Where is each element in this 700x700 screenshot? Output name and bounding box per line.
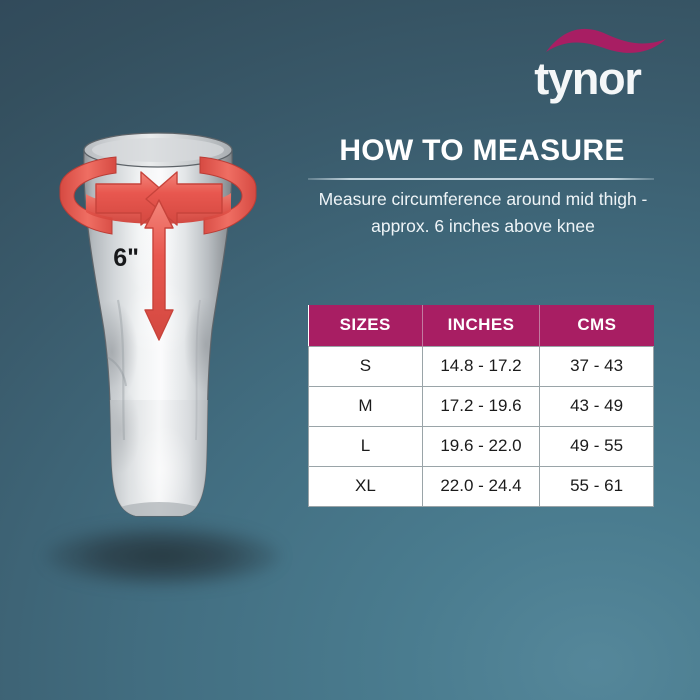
measure-distance-label: 6" bbox=[113, 244, 139, 272]
cell-cms: 37 - 43 bbox=[540, 347, 654, 387]
table-row: M 17.2 - 19.6 43 - 49 bbox=[309, 387, 654, 427]
cell-inches: 17.2 - 19.6 bbox=[422, 387, 539, 427]
cell-size: XL bbox=[309, 467, 423, 507]
size-chart: SIZES INCHES CMS S 14.8 - 17.2 37 - 43 M… bbox=[308, 305, 654, 507]
table-row: L 19.6 - 22.0 49 - 55 bbox=[309, 427, 654, 467]
cell-cms: 43 - 49 bbox=[540, 387, 654, 427]
title-divider bbox=[308, 178, 654, 180]
page-title: HOW TO MEASURE bbox=[308, 136, 656, 166]
table-header-row: SIZES INCHES CMS bbox=[309, 305, 654, 347]
cell-size: M bbox=[309, 387, 423, 427]
brand-logo: tynor bbox=[500, 22, 675, 107]
cell-size: L bbox=[309, 427, 423, 467]
thigh-measurement-diagram: 6" bbox=[0, 0, 310, 640]
table-row: S 14.8 - 17.2 37 - 43 bbox=[309, 347, 654, 387]
cell-inches: 22.0 - 24.4 bbox=[422, 467, 539, 507]
cell-cms: 55 - 61 bbox=[540, 467, 654, 507]
size-chart-page: tynor HOW TO MEASURE Measure circumferen… bbox=[0, 0, 700, 700]
table-row: XL 22.0 - 24.4 55 - 61 bbox=[309, 467, 654, 507]
cell-cms: 49 - 55 bbox=[540, 427, 654, 467]
column-header-sizes: SIZES bbox=[309, 305, 423, 347]
column-header-inches: INCHES bbox=[422, 305, 539, 347]
cell-inches: 19.6 - 22.0 bbox=[422, 427, 539, 467]
measure-instructions: Measure circumference around mid thigh -… bbox=[300, 186, 666, 240]
brand-wordmark: tynor bbox=[500, 56, 675, 101]
cell-inches: 14.8 - 17.2 bbox=[422, 347, 539, 387]
cell-size: S bbox=[309, 347, 423, 387]
column-header-cms: CMS bbox=[540, 305, 654, 347]
